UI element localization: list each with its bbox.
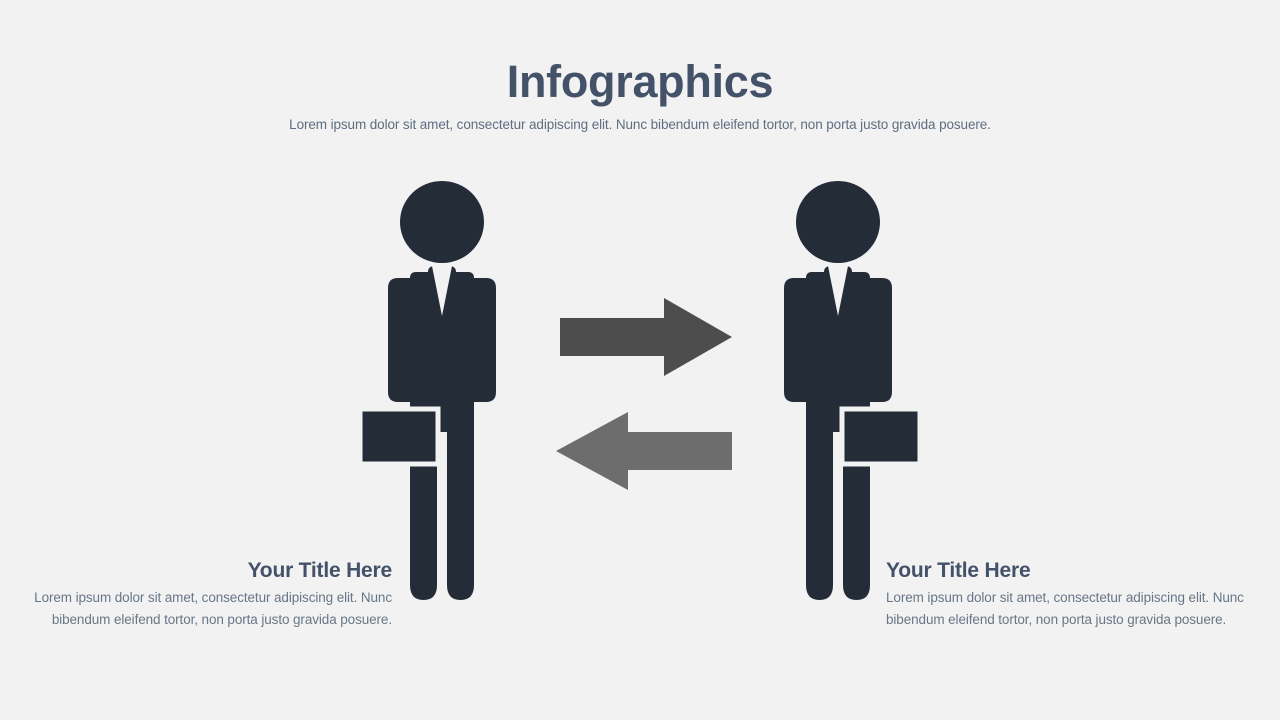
caption-block-right: Your Title Here Lorem ipsum dolor sit am… xyxy=(886,558,1256,631)
caption-body: Lorem ipsum dolor sit amet, consectetur … xyxy=(22,587,392,631)
caption-title: Your Title Here xyxy=(886,558,1256,583)
page-title: Infographics xyxy=(0,58,1280,107)
arrow-right-icon xyxy=(560,298,732,376)
businessman-right-figure xyxy=(742,180,922,610)
infographic-slide: Infographics Lorem ipsum dolor sit amet,… xyxy=(0,0,1280,720)
figure-briefcase xyxy=(360,409,438,464)
arrow-left-icon xyxy=(556,412,732,490)
caption-title: Your Title Here xyxy=(22,558,392,583)
figure-arm-left xyxy=(388,278,410,402)
caption-block-left: Your Title Here Lorem ipsum dolor sit am… xyxy=(22,558,392,631)
figure-arm-left xyxy=(870,278,892,402)
slide-header: Infographics Lorem ipsum dolor sit amet,… xyxy=(0,58,1280,134)
arrow-right-shape xyxy=(560,298,732,376)
figure-briefcase xyxy=(842,409,920,464)
businessman-left-figure xyxy=(358,180,538,610)
figure-head xyxy=(400,181,484,263)
figure-leg-right xyxy=(806,420,833,600)
arrow-left-shape xyxy=(556,412,732,490)
figure-leg-right xyxy=(447,420,474,600)
page-subtitle: Lorem ipsum dolor sit amet, consectetur … xyxy=(0,116,1280,135)
businessman-with-briefcase-icon xyxy=(358,180,538,610)
figure-arm-right xyxy=(784,278,806,402)
figure-head xyxy=(796,181,880,263)
caption-body: Lorem ipsum dolor sit amet, consectetur … xyxy=(886,587,1256,631)
figure-arm-right xyxy=(474,278,496,402)
businessman-with-briefcase-icon xyxy=(742,180,922,610)
